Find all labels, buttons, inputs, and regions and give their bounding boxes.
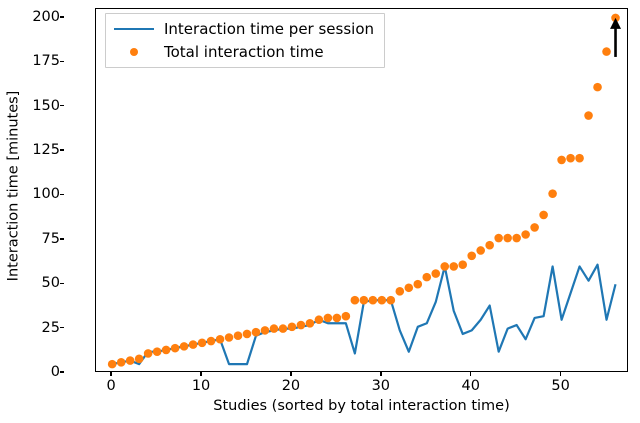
data-point bbox=[476, 246, 485, 255]
data-point bbox=[503, 234, 512, 243]
data-point bbox=[440, 262, 449, 271]
data-point bbox=[566, 154, 575, 163]
data-point bbox=[593, 83, 602, 92]
data-point bbox=[270, 324, 279, 333]
data-point bbox=[279, 324, 288, 333]
data-point bbox=[404, 283, 413, 292]
data-point bbox=[422, 273, 431, 282]
x-tick-label: 30 bbox=[372, 378, 390, 394]
data-point bbox=[162, 346, 171, 355]
data-point bbox=[324, 314, 333, 323]
data-point bbox=[431, 269, 440, 278]
legend-label-session: Interaction time per session bbox=[164, 20, 374, 38]
legend-dot-swatch bbox=[114, 48, 154, 56]
legend-label-total: Total interaction time bbox=[164, 43, 324, 61]
data-point bbox=[548, 189, 557, 198]
x-tick-label: 20 bbox=[282, 378, 300, 394]
data-point bbox=[135, 355, 144, 364]
data-point bbox=[351, 296, 360, 305]
data-point bbox=[512, 234, 521, 243]
data-point bbox=[342, 312, 351, 321]
up-arrow-annotation bbox=[610, 18, 621, 57]
data-point bbox=[387, 296, 396, 305]
data-point bbox=[360, 296, 369, 305]
data-point bbox=[306, 319, 315, 328]
x-tick-label: 10 bbox=[192, 378, 210, 394]
data-point bbox=[378, 296, 387, 305]
data-point bbox=[225, 333, 234, 342]
legend-item-line: Interaction time per session bbox=[114, 20, 374, 38]
data-point bbox=[144, 349, 153, 358]
data-point bbox=[216, 335, 225, 344]
chart-figure: Interaction time [minutes] 0255075100125… bbox=[0, 0, 640, 423]
data-point bbox=[126, 356, 135, 365]
data-point bbox=[180, 342, 189, 351]
data-point bbox=[333, 314, 342, 323]
data-point bbox=[467, 252, 476, 261]
data-point bbox=[396, 287, 405, 296]
data-point bbox=[557, 156, 566, 165]
data-point bbox=[153, 347, 162, 356]
data-point bbox=[458, 260, 467, 269]
legend-item-dot: Total interaction time bbox=[114, 43, 374, 61]
data-point bbox=[315, 315, 324, 324]
data-point bbox=[602, 47, 611, 56]
data-point bbox=[243, 330, 252, 339]
data-point bbox=[369, 296, 378, 305]
x-tick-label: 50 bbox=[551, 378, 569, 394]
data-point bbox=[530, 223, 539, 232]
legend-line-swatch bbox=[114, 28, 154, 30]
data-point bbox=[117, 358, 126, 367]
data-point bbox=[449, 262, 458, 271]
data-point bbox=[288, 323, 297, 332]
x-tick-label: 40 bbox=[461, 378, 479, 394]
data-point bbox=[261, 326, 270, 335]
data-point bbox=[413, 280, 422, 289]
data-point bbox=[539, 211, 548, 220]
data-point bbox=[584, 111, 593, 120]
data-point bbox=[234, 331, 243, 340]
data-point bbox=[108, 360, 117, 369]
series-line-interaction-per-session bbox=[112, 265, 615, 364]
x-tick-label: 0 bbox=[107, 378, 116, 394]
data-point bbox=[171, 344, 180, 353]
data-point bbox=[207, 337, 216, 346]
data-point bbox=[252, 328, 261, 337]
x-axis-label: Studies (sorted by total interaction tim… bbox=[95, 398, 628, 414]
data-point bbox=[575, 154, 584, 163]
chart-legend: Interaction time per session Total inter… bbox=[105, 13, 385, 68]
data-point bbox=[485, 241, 494, 250]
data-point bbox=[198, 339, 207, 348]
data-point bbox=[521, 230, 530, 239]
data-point bbox=[189, 340, 198, 349]
data-point bbox=[297, 321, 306, 330]
data-point bbox=[494, 234, 503, 243]
